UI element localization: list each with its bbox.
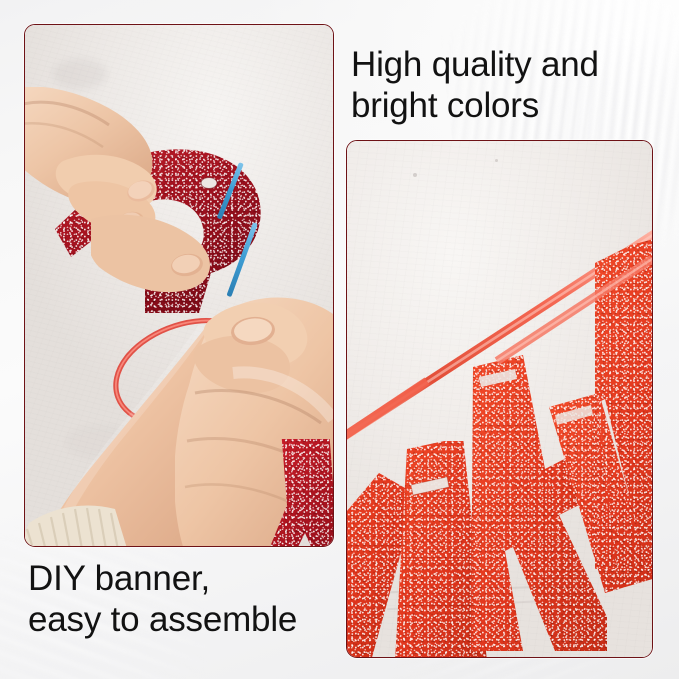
diy-assembly-photo-panel — [24, 24, 334, 547]
glitter-letter-n — [595, 239, 652, 569]
diy-assembly-photo — [25, 25, 333, 546]
glitter-letter-corner — [271, 439, 333, 546]
caption-high-quality: High quality and bright colors — [351, 44, 599, 127]
product-infographic: High quality and bright colors DIY banne… — [0, 0, 679, 679]
caption-diy-banner: DIY banner, easy to assemble — [28, 558, 297, 641]
surface-smudge — [53, 59, 107, 89]
strung-banner-photo — [347, 141, 652, 657]
strung-banner-photo-panel — [346, 140, 653, 658]
sweater-cuff — [25, 495, 151, 546]
